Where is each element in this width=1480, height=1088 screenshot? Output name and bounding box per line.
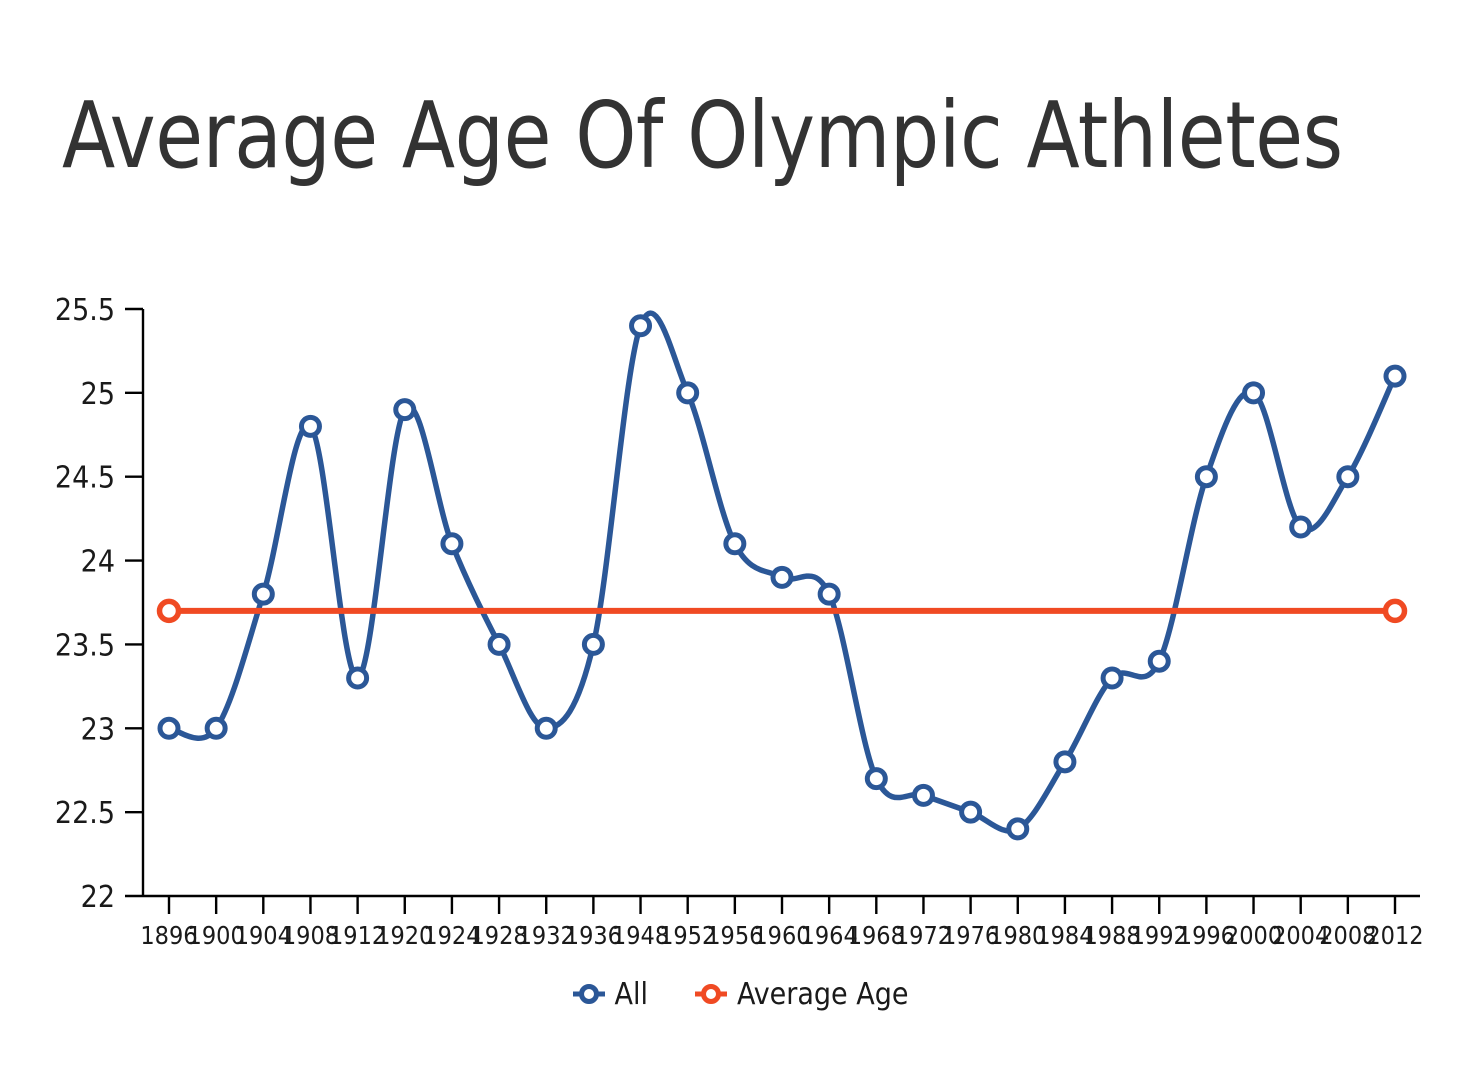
- y-tick-label: 23: [81, 712, 115, 747]
- data-point-marker[interactable]: [537, 719, 555, 737]
- legend-item-all[interactable]: All: [572, 977, 648, 1012]
- data-point-marker[interactable]: [584, 635, 602, 653]
- data-point-marker[interactable]: [301, 417, 319, 435]
- data-point-marker[interactable]: [1056, 753, 1074, 771]
- y-tick-label: 25: [81, 377, 115, 412]
- data-point-marker[interactable]: [1292, 518, 1310, 536]
- legend-label-average-age: Average Age: [737, 977, 908, 1012]
- y-tick-label: 23.5: [55, 628, 115, 663]
- data-point-marker[interactable]: [726, 535, 744, 553]
- series-average-age: [160, 601, 1405, 620]
- data-point-marker[interactable]: [962, 803, 980, 821]
- y-tick-label: 24.5: [55, 461, 115, 496]
- legend-item-average-age[interactable]: Average Age: [694, 977, 908, 1012]
- data-point-marker[interactable]: [254, 585, 272, 603]
- data-point-marker[interactable]: [1386, 601, 1405, 620]
- y-tick-label: 25.5: [55, 293, 115, 328]
- data-point-marker[interactable]: [867, 770, 885, 788]
- circle-open-icon: [572, 982, 606, 1006]
- y-tick-label: 22.5: [55, 796, 115, 831]
- data-point-marker[interactable]: [207, 719, 225, 737]
- data-point-marker[interactable]: [914, 786, 932, 804]
- data-point-marker[interactable]: [349, 669, 367, 687]
- y-axis-ticks: 2222.52323.52424.52525.5: [55, 293, 143, 915]
- data-point-marker[interactable]: [679, 384, 697, 402]
- data-point-marker[interactable]: [160, 601, 179, 620]
- data-point-marker[interactable]: [1103, 669, 1121, 687]
- data-point-marker[interactable]: [396, 401, 414, 419]
- data-point-marker[interactable]: [820, 585, 838, 603]
- line-chart-plot: 2222.52323.52424.52525.5 189619001904190…: [0, 0, 1480, 1088]
- legend-label-all: All: [615, 977, 648, 1012]
- data-point-marker[interactable]: [160, 719, 178, 737]
- data-point-marker[interactable]: [1245, 384, 1263, 402]
- y-tick-label: 22: [81, 880, 115, 915]
- data-point-marker[interactable]: [1009, 820, 1027, 838]
- series-all: [160, 313, 1404, 838]
- data-point-marker[interactable]: [1339, 468, 1357, 486]
- data-point-marker[interactable]: [443, 535, 461, 553]
- circle-open-icon: [694, 982, 728, 1006]
- data-point-marker[interactable]: [1197, 468, 1215, 486]
- data-point-marker[interactable]: [632, 317, 650, 335]
- data-point-marker[interactable]: [773, 568, 791, 586]
- series-layer: [160, 313, 1405, 838]
- data-point-marker[interactable]: [490, 635, 508, 653]
- data-point-marker[interactable]: [1386, 367, 1404, 385]
- data-point-marker[interactable]: [1150, 652, 1168, 670]
- chart-container: Average Age Of Olympic Athletes 2222.523…: [0, 0, 1480, 1088]
- chart-legend: All Average Age: [0, 968, 1480, 1020]
- y-tick-label: 24: [81, 545, 115, 580]
- x-tick-label: 2012: [1366, 921, 1423, 950]
- x-axis-ticks: 1896190019041908191219201924192819321936…: [140, 896, 1423, 950]
